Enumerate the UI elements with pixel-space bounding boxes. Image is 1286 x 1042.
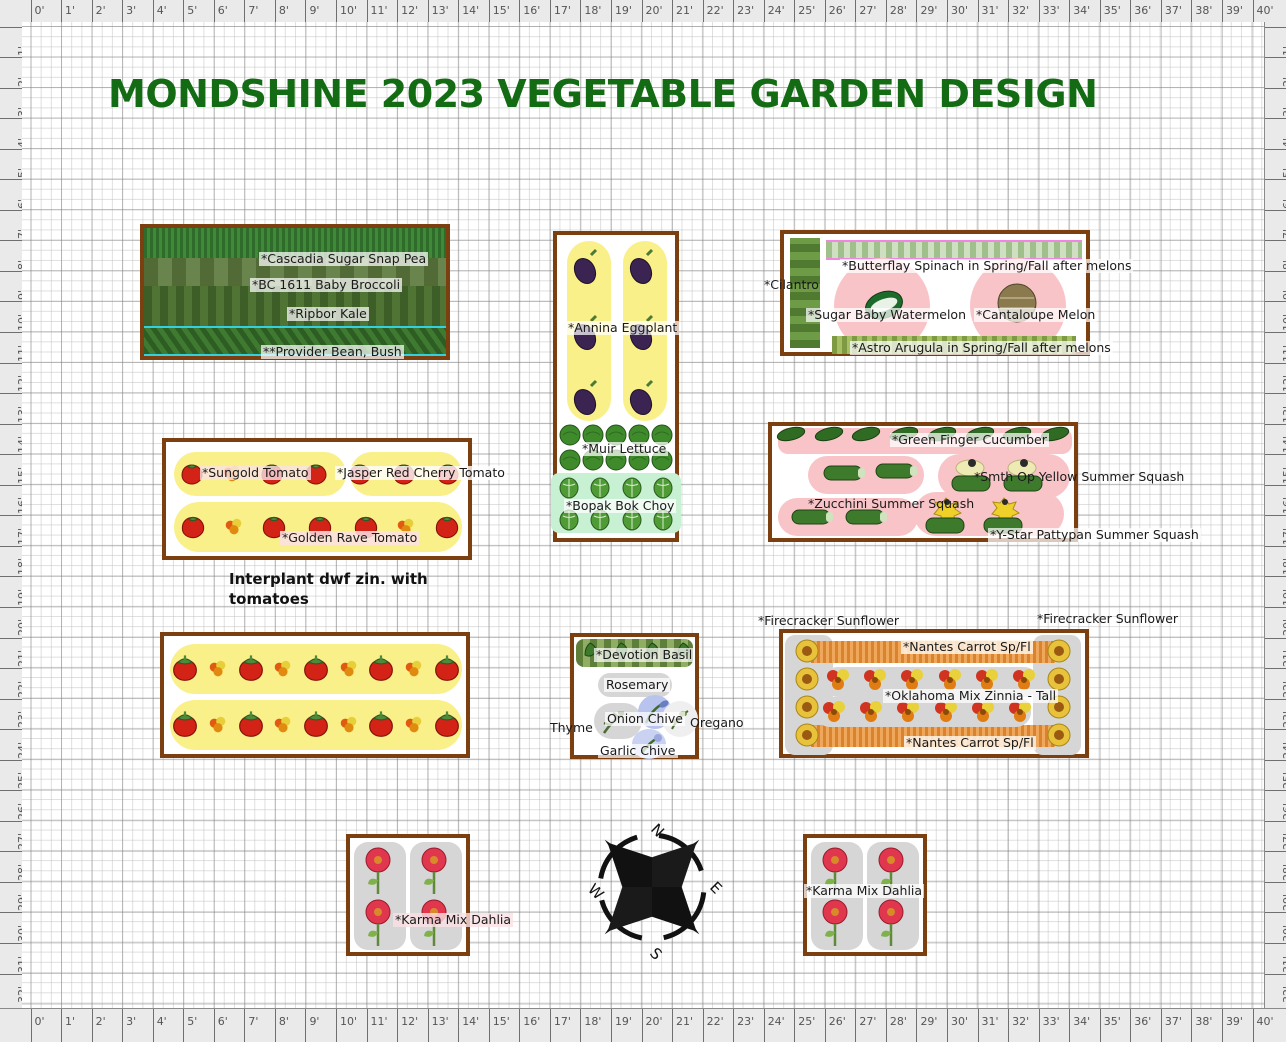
dahlia-icon (358, 898, 398, 948)
dahlia-icon (871, 898, 911, 948)
zucchini-icon (874, 460, 918, 482)
ruler-tick-v: 10' (0, 301, 22, 332)
ruler-tick-h: 10' (336, 0, 357, 22)
ruler-tick-h: 15' (489, 0, 510, 22)
ruler-tick-h: 8' (275, 1009, 289, 1042)
ruler-tick-v: 20' (0, 607, 22, 638)
ruler-tick-h: 29' (916, 1009, 937, 1042)
ruler-tick-h: 37' (1161, 1009, 1182, 1042)
ruler-tick-v: 12' (0, 363, 22, 394)
ruler-tick-h: 19' (611, 0, 632, 22)
ruler-tick-v: 6' (0, 179, 22, 210)
ruler-tick-v: 9' (0, 271, 22, 302)
ruler-left[interactable]: 1'2'3'4'5'6'7'8'9'10'11'12'13'14'15'16'1… (0, 22, 23, 1008)
ruler-tick-h: 18' (580, 1009, 601, 1042)
ruler-tick-h: 0' (31, 0, 45, 22)
ruler-tick-v: 26' (0, 790, 22, 821)
label-butterflay-spinach: *Butterflay Spinach in Spring/Fall after… (840, 259, 1133, 273)
ruler-tick-h: 14' (458, 1009, 479, 1042)
ruler-tick-h: 32' (1008, 1009, 1029, 1042)
ruler-tick-h: 7' (244, 0, 258, 22)
label-cilantro: *Cilantro (762, 278, 821, 292)
ruler-bottom[interactable]: 0'1'2'3'4'5'6'7'8'9'10'11'12'13'14'15'16… (0, 1008, 1286, 1042)
ruler-tick-h: 26' (825, 1009, 846, 1042)
ruler-right[interactable]: 1'2'3'4'5'6'7'8'9'10'11'12'13'14'15'16'1… (1264, 22, 1286, 1008)
ruler-top[interactable]: 0'1'2'3'4'5'6'7'8'9'10'11'12'13'14'15'16… (0, 0, 1286, 23)
ruler-tick-h: 21' (672, 0, 693, 22)
eggplant-icon (571, 378, 601, 416)
label-zucchini-summer-squash: *Zucchini Summer Squash (806, 497, 976, 511)
ruler-tick-v: 11' (0, 332, 22, 363)
bed-brassica[interactable] (140, 224, 450, 360)
ruler-tick-v: 29' (1265, 882, 1286, 913)
ruler-tick-h: 16' (519, 1009, 540, 1042)
eggplant-icon (627, 247, 657, 285)
ruler-tick-h: 17' (550, 1009, 571, 1042)
sunflower-icon (793, 637, 821, 665)
label-cantaloupe-melon: *Cantaloupe Melon (974, 308, 1097, 322)
ruler-tick-h: 30' (947, 1009, 968, 1042)
ruler-tick-v: 3' (0, 88, 22, 119)
label-nantes-carrot-top: *Nantes Carrot Sp/Fl (901, 640, 1033, 654)
ruler-tick-h: 2' (92, 1009, 106, 1042)
ruler-tick-h: 24' (764, 0, 785, 22)
ruler-tick-v: 31' (0, 943, 22, 974)
bed-melon[interactable] (780, 230, 1090, 356)
ruler-tick-v: 8' (1265, 240, 1286, 271)
ruler-tick-h: 35' (1100, 1009, 1121, 1042)
sunflower-icon (1045, 637, 1073, 665)
ruler-tick-h: 36' (1130, 0, 1151, 22)
ruler-tick-h: 36' (1130, 1009, 1151, 1042)
ruler-tick-h: 38' (1191, 0, 1212, 22)
ruler-tick-v: 9' (1265, 271, 1286, 302)
ruler-tick-h: 5' (183, 0, 197, 22)
ruler-tick-v: 25' (0, 760, 22, 791)
ruler-tick-h: 0' (31, 1009, 45, 1042)
ruler-tick-h: 37' (1161, 0, 1182, 22)
ruler-tick-v: 24' (0, 729, 22, 760)
ruler-tick-h: 14' (458, 0, 479, 22)
ruler-tick-v: 14' (1265, 424, 1286, 455)
label-smth-op-yellow-summer-squash: *Smth Op Yellow Summer Squash (972, 470, 1186, 484)
ruler-tick-h: 3' (122, 1009, 136, 1042)
ruler-tick-h: 30' (947, 0, 968, 22)
ruler-tick-v: 18' (1265, 546, 1286, 577)
ruler-tick-h: 39' (1222, 1009, 1243, 1042)
ruler-tick-h: 19' (611, 1009, 632, 1042)
ruler-tick-h: 34' (1069, 0, 1090, 22)
label-karma-mix-dahlia-right: *Karma Mix Dahlia (804, 884, 924, 898)
ruler-tick-h: 34' (1069, 1009, 1090, 1042)
label-muir-lettuce: *Muir Lettuce (580, 442, 668, 456)
ruler-tick-h: 35' (1100, 0, 1121, 22)
ruler-tick-h: 27' (855, 1009, 876, 1042)
ruler-tick-v: 4' (1265, 118, 1286, 149)
ruler-tick-v: 16' (0, 485, 22, 516)
ruler-tick-v: 30' (0, 912, 22, 943)
ruler-tick-h: 10' (336, 1009, 357, 1042)
ruler-tick-h: 22' (703, 1009, 724, 1042)
ruler-tick-h: 24' (764, 1009, 785, 1042)
ruler-tick-v: 20' (1265, 607, 1286, 638)
sunflower-icon (793, 721, 821, 749)
ruler-tick-v: 14' (0, 424, 22, 455)
ruler-tick-h: 20' (642, 1009, 663, 1042)
ruler-tick-h: 40' (1253, 0, 1274, 22)
ruler-tick-v: 4' (0, 118, 22, 149)
ruler-tick-h: 5' (183, 1009, 197, 1042)
ruler-tick-v: 17' (1265, 515, 1286, 546)
ruler-tick-h: 40' (1253, 1009, 1274, 1042)
ruler-tick-h: 31' (978, 0, 999, 22)
ruler-tick-h: 12' (397, 0, 418, 22)
ruler-tick-v: 18' (0, 546, 22, 577)
ruler-tick-v: 7' (1265, 210, 1286, 241)
ruler-tick-h: 25' (794, 1009, 815, 1042)
ruler-tick-v: 17' (0, 515, 22, 546)
ruler-tick-v: 32' (0, 974, 22, 1005)
ruler-tick-v: 23' (1265, 699, 1286, 730)
ruler-tick-h: 4' (153, 1009, 167, 1042)
ruler-tick-h: 16' (519, 0, 540, 22)
label-bopak-bok-choy: *Bopak Bok Choy (564, 499, 676, 513)
compass-south-label: S (646, 944, 665, 962)
ruler-tick-v: 23' (0, 699, 22, 730)
big-beef-row (166, 646, 466, 692)
garden-design-canvas: 0'1'2'3'4'5'6'7'8'9'10'11'12'13'14'15'16… (0, 0, 1286, 1041)
ruler-tick-v: 22' (0, 668, 22, 699)
ruler-tick-v: 5' (0, 149, 22, 180)
bed-dahlia-left[interactable] (346, 834, 470, 956)
ruler-tick-h: 20' (642, 0, 663, 22)
ruler-tick-v: 3' (1265, 88, 1286, 119)
label-oklahoma-mix-zinnia: *Oklahoma Mix Zinnia - Tall (883, 689, 1058, 703)
ruler-tick-h: 1' (61, 1009, 75, 1042)
label-karma-mix-dahlia-left: *Karma Mix Dahlia (393, 913, 513, 927)
ruler-tick-v: 1' (1265, 27, 1286, 58)
ruler-tick-h: 39' (1222, 0, 1243, 22)
label-golden-rave-tomato: *Golden Rave Tomato (280, 531, 419, 545)
ruler-tick-h: 17' (550, 0, 571, 22)
sunflower-icon (1045, 721, 1073, 749)
ruler-tick-h: 9' (305, 0, 319, 22)
black-krim-row (166, 702, 466, 748)
spinach-strip (826, 240, 1082, 260)
ruler-tick-v: 29' (0, 882, 22, 913)
label-cascadia-sugar-snap-pea: *Cascadia Sugar Snap Pea (259, 252, 428, 266)
ruler-tick-h: 22' (703, 0, 724, 22)
ruler-tick-h: 28' (886, 0, 907, 22)
label-firecracker-sunflower-left: *Firecracker Sunflower (756, 614, 901, 628)
ruler-tick-h: 11' (367, 1009, 388, 1042)
ruler-tick-h: 2' (92, 0, 106, 22)
ruler-tick-v: 28' (0, 851, 22, 882)
ruler-tick-v: 28' (1265, 851, 1286, 882)
ruler-tick-v: 32' (1265, 974, 1286, 1005)
ruler-tick-v: 19' (0, 576, 22, 607)
label-oregano: Oregano (688, 716, 746, 730)
ruler-tick-v: 19' (1265, 576, 1286, 607)
eggplant-icon (571, 247, 601, 285)
bed-eggplant[interactable] (553, 231, 679, 542)
ruler-tick-v: 2' (0, 57, 22, 88)
ruler-tick-h: 38' (1191, 1009, 1212, 1042)
ruler-tick-v: 1' (0, 27, 22, 58)
label-bc-1611-baby-broccoli: *BC 1611 Baby Broccoli (250, 278, 402, 292)
zucchini-icon (822, 462, 866, 484)
label-rosemary: Rosemary (604, 678, 670, 692)
label-garlic-chive: Garlic Chive (598, 744, 678, 758)
label-annina-eggplant: *Annina Eggplant (566, 321, 679, 335)
label-devotion-basil: *Devotion Basil (594, 648, 694, 662)
eggplant-icon (627, 378, 657, 416)
ruler-tick-h: 1' (61, 0, 75, 22)
ruler-tick-v: 24' (1265, 729, 1286, 760)
ruler-tick-h: 15' (489, 1009, 510, 1042)
ruler-tick-v: 31' (1265, 943, 1286, 974)
ruler-tick-h: 29' (916, 0, 937, 22)
label-y-star-pattypan-summer-squash: *Y-Star Pattypan Summer Squash (988, 528, 1201, 542)
ruler-tick-h: 33' (1039, 1009, 1060, 1042)
ruler-tick-h: 13' (428, 0, 449, 22)
label-sugar-baby-watermelon: *Sugar Baby Watermelon (806, 308, 968, 322)
ruler-tick-v: 5' (1265, 149, 1286, 180)
ruler-tick-h: 25' (794, 0, 815, 22)
ruler-tick-v: 10' (1265, 301, 1286, 332)
ruler-tick-v: 16' (1265, 485, 1286, 516)
design-canvas[interactable]: MONDSHINE 2023 VEGETABLE GARDEN DESIGN *… (22, 22, 1264, 1008)
ruler-tick-h: 4' (153, 0, 167, 22)
label-nantes-carrot-bottom: *Nantes Carrot Sp/Fl (904, 736, 1036, 750)
ruler-tick-h: 26' (825, 0, 846, 22)
ruler-tick-h: 9' (305, 1009, 319, 1042)
ruler-tick-h: 23' (733, 1009, 754, 1042)
label-sungold-tomato: *Sungold Tomato (200, 466, 311, 480)
ruler-tick-h: 18' (580, 0, 601, 22)
ruler-tick-v: 8' (0, 240, 22, 271)
ruler-tick-v: 27' (1265, 821, 1286, 852)
ruler-tick-v: 2' (1265, 57, 1286, 88)
ruler-tick-v: 25' (1265, 760, 1286, 791)
label-green-finger-cucumber: *Green Finger Cucumber (890, 433, 1049, 447)
ruler-tick-h: 32' (1008, 0, 1029, 22)
page-title: MONDSHINE 2023 VEGETABLE GARDEN DESIGN (108, 72, 1097, 116)
ruler-tick-h: 13' (428, 1009, 449, 1042)
dahlia-icon (414, 846, 454, 896)
label-thyme: Thyme (548, 721, 595, 735)
ruler-tick-v: 7' (0, 210, 22, 241)
label-firecracker-sunflower-right: *Firecracker Sunflower (1035, 612, 1180, 626)
ruler-tick-v: 11' (1265, 332, 1286, 363)
ruler-tick-h: 7' (244, 1009, 258, 1042)
label-jasper-red-cherry-tomato: *Jasper Red Cherry Tomato (335, 466, 507, 480)
ruler-tick-h: 21' (672, 1009, 693, 1042)
compass-rose: N E S W (577, 812, 727, 962)
label-astro-arugula: *Astro Arugula in Spring/Fall after melo… (850, 341, 1113, 355)
ruler-tick-v: 15' (0, 454, 22, 485)
bed-slicing-tomato[interactable] (160, 632, 470, 758)
ruler-tick-h: 27' (855, 0, 876, 22)
cilantro-strip (790, 238, 820, 348)
ruler-tick-h: 8' (275, 0, 289, 22)
compass-east-label: E (706, 878, 725, 897)
dahlia-icon (358, 846, 398, 896)
ruler-tick-v: 27' (0, 821, 22, 852)
ruler-tick-v: 22' (1265, 668, 1286, 699)
label-provider-bean-bush: **Provider Bean, Bush (261, 345, 404, 359)
sunflower-icon (793, 693, 821, 721)
ruler-tick-v: 21' (1265, 638, 1286, 669)
ruler-tick-v: 6' (1265, 179, 1286, 210)
ruler-tick-h: 33' (1039, 0, 1060, 22)
ruler-tick-h: 12' (397, 1009, 418, 1042)
ruler-tick-v: 21' (0, 638, 22, 669)
label-onion-chive: Onion Chive (605, 712, 685, 726)
dahlia-icon (815, 898, 855, 948)
ruler-tick-v: 26' (1265, 790, 1286, 821)
ruler-tick-v: 30' (1265, 912, 1286, 943)
ruler-tick-h: 23' (733, 0, 754, 22)
ruler-tick-h: 11' (367, 0, 388, 22)
ruler-tick-v: 13' (1265, 393, 1286, 424)
ruler-tick-v: 12' (1265, 363, 1286, 394)
ruler-tick-h: 3' (122, 0, 136, 22)
ruler-tick-v: 13' (0, 393, 22, 424)
ruler-tick-v: 15' (1265, 454, 1286, 485)
ruler-tick-h: 28' (886, 1009, 907, 1042)
sunflower-icon (793, 665, 821, 693)
ruler-tick-h: 6' (214, 1009, 228, 1042)
label-ripbor-kale: *Ripbor Kale (287, 307, 369, 321)
ruler-tick-h: 6' (214, 0, 228, 22)
note-interplant-zinnia: Interplant dwf zin. with tomatoes (229, 569, 429, 609)
ruler-tick-h: 31' (978, 1009, 999, 1042)
